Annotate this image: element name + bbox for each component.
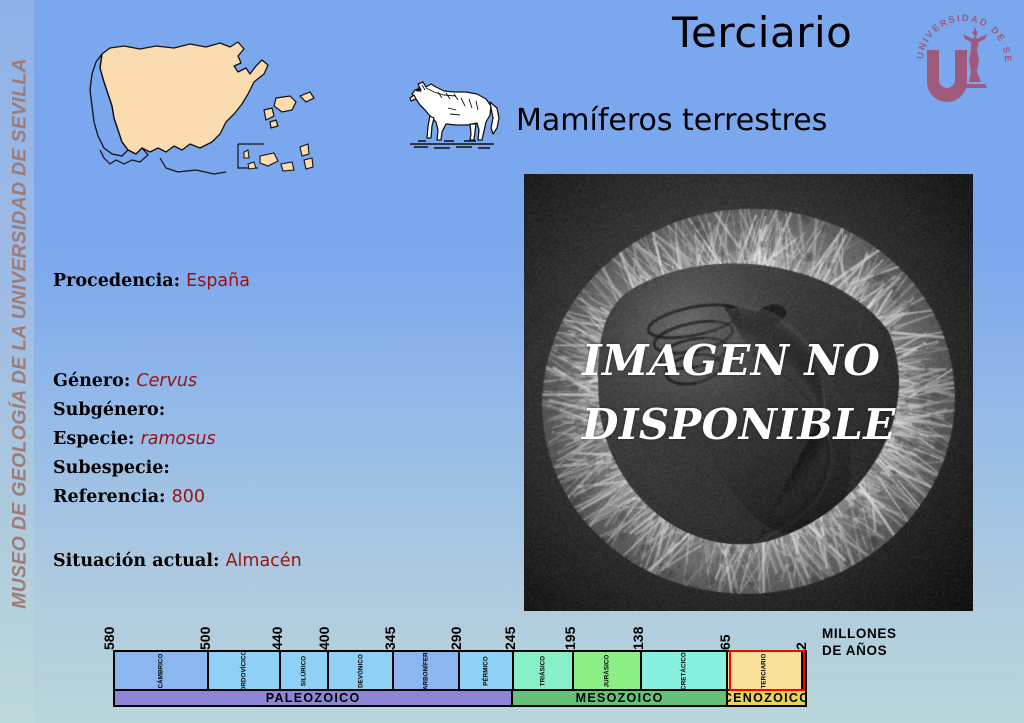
timescale-period-label: DEVÓNICO (357, 654, 364, 688)
timescale-era-mesozoico: MESOZOICO (513, 691, 728, 705)
timescale-tick-65: 65 (717, 634, 733, 650)
timescale-period-cuaternario: CUATERNARIO (803, 652, 805, 689)
field-situacion-value: Almacén (226, 551, 302, 571)
timescale-period-label: ORDOVÍCICO (241, 652, 248, 689)
timescale-period-silrico: SILÚRICO (281, 652, 329, 689)
timescale-period-devnico: DEVÓNICO (329, 652, 395, 689)
timescale-tick-400: 400 (316, 627, 332, 650)
timescale-period-carbonfero: CARBONÍFERO (394, 652, 460, 689)
timescale-tick-245: 245 (502, 627, 518, 650)
timescale-era-label: CENOZOICO (728, 691, 805, 705)
timescale-era-paleozoico: PALEOZOICO (115, 691, 513, 705)
timescale-tick-195: 195 (562, 627, 578, 650)
timescale-period-row: CÁMBRICOORDOVÍCICOSILÚRICODEVÓNICOCARBON… (113, 650, 807, 691)
timescale-period-label: CARBONÍFERO (423, 652, 430, 689)
field-referencia-label: Referencia: (53, 487, 166, 507)
spain-mainland-shape (90, 42, 268, 164)
universidad-de-sevilla-seal-logo: UNIVERSIDAD DE SEVILLA (913, 6, 1013, 106)
field-genero-value: Cervus (136, 371, 197, 391)
field-procedencia-value: España (186, 271, 250, 291)
image-unavailable-overlay: IMAGEN NO DISPONIBLE (524, 174, 973, 611)
spain-map-illustration (78, 22, 348, 242)
timescale-tick-2: 2 (793, 642, 809, 650)
overlay-line-1: IMAGEN NO (582, 329, 973, 393)
geologic-timescale-chart: CÁMBRICOORDOVÍCICOSILÚRICODEVÓNICOCARBON… (113, 650, 807, 707)
timescale-tick-labels: 580500440400345290245195138652 (113, 620, 813, 650)
timescale-period-cretcico: CRETÁCICO (642, 652, 728, 689)
timescale-period-label: SILÚRICO (300, 655, 307, 685)
timescale-period-label: TRIÁSICO (539, 655, 546, 685)
field-situacion-label: Situación actual: (53, 551, 219, 571)
field-referencia: Referencia: 800 (53, 487, 205, 507)
slide-root: MUSEO DE GEOLOGÍA DE LA UNIVERSIDAD DE S… (0, 0, 1024, 723)
field-situacion-actual: Situación actual: Almacén (53, 551, 302, 571)
timescale-tick-345: 345 (382, 627, 398, 650)
timescale-period-label: CUATERNARIO (803, 652, 805, 689)
timescale-period-terciario: TERCIARIO (728, 652, 803, 689)
field-especie: Especie: ramosus (53, 429, 216, 449)
specimen-photo: IMAGEN NO DISPONIBLE (524, 174, 973, 611)
timescale-period-ordovcico: ORDOVÍCICO (209, 652, 280, 689)
timescale-period-jursico: JURÁSICO (574, 652, 642, 689)
timescale-period-label: CÁMBRICO (158, 653, 165, 688)
timescale-period-prmico: PÉRMICO (460, 652, 514, 689)
balearic-islands-shape (264, 92, 314, 128)
timescale-era-label: PALEOZOICO (266, 691, 361, 705)
horse-illustration (398, 68, 506, 158)
timescale-tick-440: 440 (269, 627, 285, 650)
timescale-tick-580: 580 (101, 627, 117, 650)
field-subgenero: Subgénero: (53, 400, 165, 420)
field-procedencia-label: Procedencia: (53, 271, 180, 291)
seal-u-letter (927, 50, 967, 102)
field-genero: Género: Cervus (53, 371, 197, 391)
field-referencia-value: 800 (172, 487, 205, 507)
timescale-period-label: JURÁSICO (603, 654, 610, 687)
field-especie-value: ramosus (141, 429, 216, 449)
timescale-tick-500: 500 (197, 627, 213, 650)
timescale-tick-138: 138 (630, 627, 646, 650)
field-subespecie: Subespecie: (53, 458, 170, 478)
horse-ground-line (410, 141, 494, 148)
field-procedencia: Procedencia: España (53, 271, 250, 291)
field-genero-label: Género: (53, 371, 130, 391)
museum-name-label: MUSEO DE GEOLOGÍA DE LA UNIVERSIDAD DE S… (9, 0, 32, 694)
timescale-tick-290: 290 (448, 627, 464, 650)
page-title: Terciario (672, 8, 852, 57)
field-subespecie-label: Subespecie: (53, 458, 170, 478)
timescale-period-label: PÉRMICO (482, 656, 489, 686)
unit-line-2: DE AÑOS (822, 643, 897, 660)
timescale-era-row: PALEOZOICOMESOZOICOCENOZOICO (113, 689, 807, 707)
canary-islands-shape (238, 144, 313, 171)
field-subgenero-label: Subgénero: (53, 400, 165, 420)
page-subtitle: Mamíferos terrestres (516, 103, 827, 138)
timescale-era-cenozoico: CENOZOICO (728, 691, 805, 705)
field-especie-label: Especie: (53, 429, 134, 449)
overlay-line-2: DISPONIBLE (582, 393, 973, 457)
timescale-period-cmbrico: CÁMBRICO (115, 652, 209, 689)
north-africa-coast (160, 158, 226, 174)
timescale-period-trisico: TRIÁSICO (514, 652, 574, 689)
timescale-era-label: MESOZOICO (576, 691, 664, 705)
timescale-unit-label: MILLONES DE AÑOS (822, 626, 897, 660)
unit-line-1: MILLONES (822, 626, 897, 643)
timescale-period-label: CRETÁCICO (680, 652, 687, 689)
timescale-period-label: TERCIARIO (761, 653, 768, 688)
